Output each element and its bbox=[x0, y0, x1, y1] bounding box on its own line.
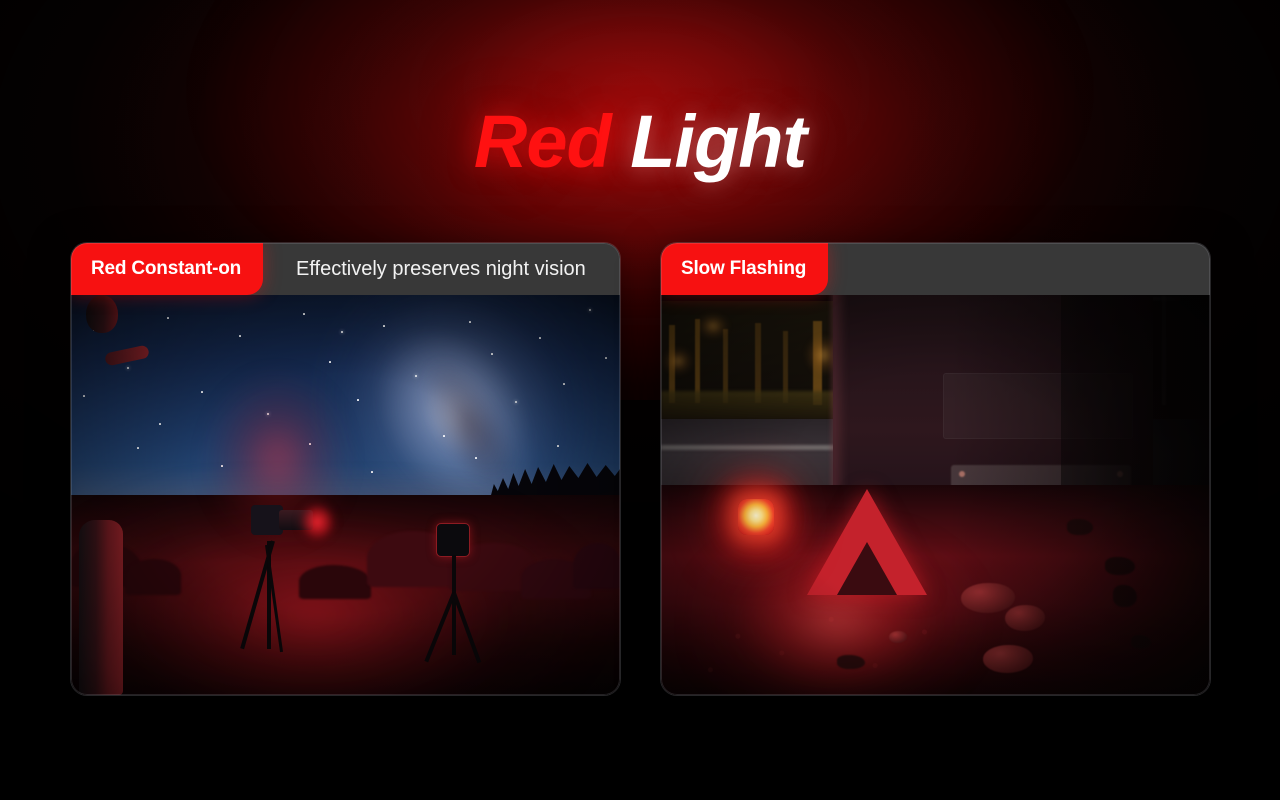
photo-vignette bbox=[661, 295, 1210, 695]
card-red-constant-on[interactable]: Red Constant-on Effectively preserves ni… bbox=[71, 243, 620, 695]
badge-red-constant-on: Red Constant-on bbox=[71, 243, 263, 295]
card-photo-roadside-warning bbox=[661, 295, 1210, 695]
card-slow-flashing[interactable]: Slow Flashing Safety warning or emergenc… bbox=[661, 243, 1210, 695]
page-title: Red Light bbox=[0, 101, 1280, 183]
card-photo-astrophotography bbox=[71, 295, 620, 695]
slide-root: Red Light bbox=[0, 0, 1280, 800]
badge-slow-flashing: Slow Flashing bbox=[661, 243, 828, 295]
page-title-red-word: Red bbox=[474, 100, 611, 183]
page-title-white-word: Light bbox=[630, 100, 806, 183]
description-red-constant-on: Effectively preserves night vision bbox=[296, 243, 586, 295]
photo-vignette bbox=[71, 295, 620, 695]
